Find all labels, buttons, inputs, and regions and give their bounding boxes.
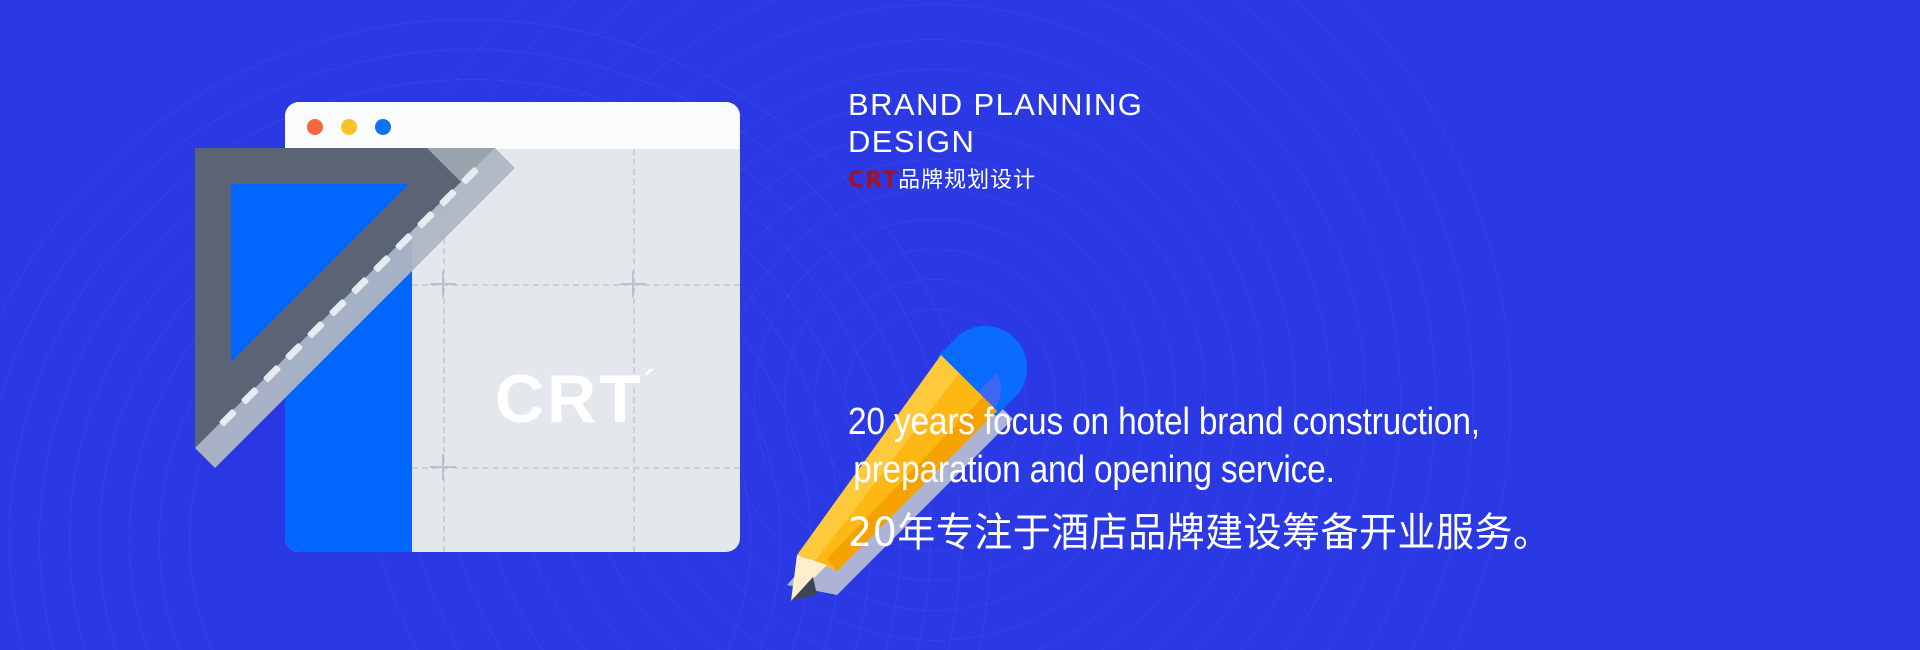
- headline-subtitle-cn: 品牌规划设计: [898, 168, 1036, 193]
- crt-watermark: CRT´: [495, 365, 657, 433]
- crt-watermark-text: CRT: [495, 361, 644, 437]
- headline-subtitle: CRT品牌规划设计: [848, 167, 1548, 195]
- triangle-ruler-icon: [195, 132, 515, 452]
- tagline-en-line-1: 20 years focus on hotel brand constructi…: [848, 398, 1605, 446]
- headline-block: BRAND PLANNING DESIGN CRT品牌规划设计: [848, 86, 1548, 195]
- guide-line-vertical: [633, 149, 635, 552]
- headline-brand-mark: CRT: [848, 168, 898, 193]
- headline-line-1: BRAND PLANNING: [848, 86, 1548, 123]
- guide-line-horizontal: [412, 467, 740, 469]
- headline-line-2: DESIGN: [848, 123, 1548, 160]
- tagline-cn-line: 20年专注于酒店品牌建设筹备开业服务。: [848, 508, 1665, 558]
- guide-crosshair-icon: [620, 271, 646, 297]
- crt-watermark-tick: ´: [644, 363, 657, 407]
- guide-crosshair-icon: [430, 454, 456, 480]
- tagline-block: 20 years focus on hotel brand constructi…: [848, 398, 1708, 558]
- brand-design-illustration: CRT´: [285, 102, 740, 552]
- brand-banner: CRT´: [0, 0, 1920, 650]
- tagline-en-line-2: preparation and opening service.: [848, 446, 1605, 494]
